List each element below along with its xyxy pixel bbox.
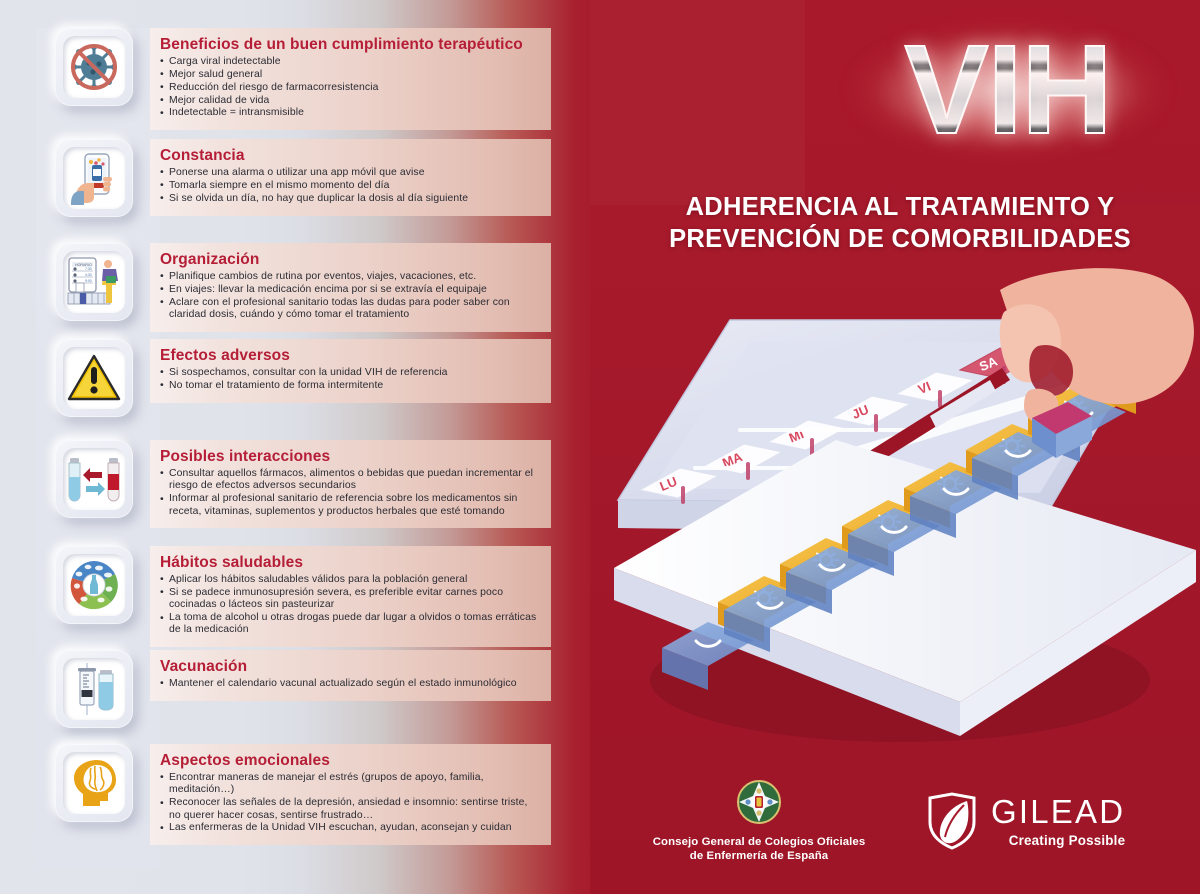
- phone-app-reminder-icon: [63, 147, 125, 209]
- section-bullet-list: Si sospechamos, consultar con la unidad …: [160, 367, 539, 392]
- section-bullet-list: Planifique cambios de rutina por eventos…: [160, 271, 539, 322]
- bullet-item: Tomarla siempre en el mismo momento del …: [160, 180, 539, 192]
- section-icon-container: [38, 339, 150, 417]
- section-title: Organización: [160, 251, 539, 269]
- section-bullet-list: Mantener el calendario vacunal actualiza…: [160, 678, 539, 690]
- section-title: Beneficios de un buen cumplimiento terap…: [160, 36, 539, 54]
- vih-logo-text: VIH: [832, 14, 1184, 166]
- section-bullet-list: Aplicar los hábitos saludables válidos p…: [160, 574, 539, 637]
- section-icon-container: [38, 546, 150, 624]
- section-card: Hábitos saludablesAplicar los hábitos sa…: [150, 546, 551, 647]
- section-7: VacunaciónMantener el calendario vacunal…: [38, 650, 551, 728]
- gilead-logo: GILEAD Creating Possible: [926, 790, 1176, 852]
- section-4: Efectos adversosSi sospechamos, consulta…: [38, 339, 551, 417]
- section-title: Efectos adversos: [160, 347, 539, 365]
- icon-tile: [55, 139, 133, 217]
- section-title: Posibles interacciones: [160, 448, 539, 466]
- section-bullet-list: Ponerse una alarma o utilizar una app mó…: [160, 167, 539, 205]
- bullet-item: Reducción del riesgo de farmacorresisten…: [160, 82, 539, 94]
- section-icon-container: HORARIO 7:304:309:00: [38, 243, 150, 321]
- section-bullet-list: Carga viral indetectableMejor salud gene…: [160, 56, 539, 120]
- section-3: HORARIO 7:304:309:00 OrganizaciónPlani: [38, 243, 551, 332]
- section-card: VacunaciónMantener el calendario vacunal…: [150, 650, 551, 701]
- icon-tile: [55, 28, 133, 106]
- bullet-item: En viajes: llevar la medicación encima p…: [160, 284, 539, 296]
- section-8: Aspectos emocionalesEncontrar maneras de…: [38, 744, 551, 845]
- bullet-item: Mejor salud general: [160, 69, 539, 81]
- gilead-wordmark: GILEAD: [991, 795, 1125, 828]
- section-icon-container: [38, 440, 150, 518]
- bullet-item: Consultar aquellos fármacos, alimentos o…: [160, 468, 539, 493]
- section-1: Beneficios de un buen cumplimiento terap…: [38, 28, 551, 130]
- section-card: OrganizaciónPlanifique cambios de rutina…: [150, 243, 551, 332]
- poster-canvas: Beneficios de un buen cumplimiento terap…: [0, 0, 1200, 894]
- bullet-item: Carga viral indetectable: [160, 56, 539, 68]
- calendar-schedule-icon: HORARIO 7:304:309:00: [63, 251, 125, 313]
- section-icon-container: [38, 28, 150, 106]
- section-bullet-list: Encontrar maneras de manejar el estrés (…: [160, 772, 539, 835]
- vih-logo: VIH: [832, 14, 1184, 166]
- section-title: Hábitos saludables: [160, 554, 539, 572]
- section-2: ConstanciaPonerse una alarma o utilizar …: [38, 139, 551, 217]
- bullet-item: Encontrar maneras de manejar el estrés (…: [160, 772, 539, 797]
- page-title: ADHERENCIA AL TRATAMIENTO Y PREVENCIÓN D…: [600, 192, 1200, 255]
- cge-emblem-icon: [732, 778, 786, 826]
- head-brain-icon: [63, 752, 125, 814]
- drug-interaction-vials-icon: [63, 448, 125, 510]
- bullet-item: Informar al profesional sanitario de ref…: [160, 493, 539, 518]
- healthy-food-wheel-icon: [63, 554, 125, 616]
- bullet-item: Si se padece inmunosupresión severa, es …: [160, 587, 539, 612]
- headline-line-1: ADHERENCIA AL TRATAMIENTO Y: [600, 192, 1200, 224]
- bullet-item: Aclare con el profesional sanitario toda…: [160, 297, 539, 322]
- bullet-item: Mejor calidad de vida: [160, 95, 539, 107]
- bullet-item: Planifique cambios de rutina por eventos…: [160, 271, 539, 283]
- bullet-item: La toma de alcohol u otras drogas puede …: [160, 612, 539, 637]
- bullet-item: Mantener el calendario vacunal actualiza…: [160, 678, 539, 690]
- gilead-tagline: Creating Possible: [991, 833, 1125, 848]
- section-bullet-list: Consultar aquellos fármacos, alimentos o…: [160, 468, 539, 518]
- section-6: Hábitos saludablesAplicar los hábitos sa…: [38, 546, 551, 647]
- section-title: Constancia: [160, 147, 539, 165]
- section-card: Posibles interaccionesConsultar aquellos…: [150, 440, 551, 528]
- icon-tile: [55, 339, 133, 417]
- section-title: Aspectos emocionales: [160, 752, 539, 770]
- section-icon-container: [38, 744, 150, 822]
- sections-list: Beneficios de un buen cumplimiento terap…: [0, 0, 600, 894]
- icon-tile: [55, 744, 133, 822]
- right-red-top-block: [590, 0, 805, 205]
- gilead-shield-icon: [926, 792, 978, 850]
- icon-tile: [55, 440, 133, 518]
- icon-tile: [55, 650, 133, 728]
- section-card: Aspectos emocionalesEncontrar maneras de…: [150, 744, 551, 845]
- pill-organizer-illustration: LUMAMIJUVISADO: [600, 250, 1200, 770]
- icon-tile: HORARIO 7:304:309:00: [55, 243, 133, 321]
- cge-line-2: de Enfermería de España: [604, 850, 914, 864]
- section-title: Vacunación: [160, 658, 539, 676]
- syringe-vaccine-icon: [63, 658, 125, 720]
- section-card: Efectos adversosSi sospechamos, consulta…: [150, 339, 551, 403]
- cge-logo: Consejo General de Colegios Oficiales de…: [604, 778, 914, 863]
- icon-tile: [55, 546, 133, 624]
- section-icon-container: [38, 650, 150, 728]
- cge-line-1: Consejo General de Colegios Oficiales: [604, 836, 914, 850]
- svg-text:9:00: 9:00: [85, 279, 92, 283]
- section-5: Posibles interaccionesConsultar aquellos…: [38, 440, 551, 528]
- bullet-item: Si se olvida un día, no hay que duplicar…: [160, 193, 539, 205]
- section-card: Beneficios de un buen cumplimiento terap…: [150, 28, 551, 130]
- bullet-item: Aplicar los hábitos saludables válidos p…: [160, 574, 539, 586]
- bullet-item: Si sospechamos, consultar con la unidad …: [160, 367, 539, 379]
- svg-text:7:30: 7:30: [85, 267, 92, 271]
- left-column: Beneficios de un buen cumplimiento terap…: [0, 0, 600, 894]
- bullet-item: Reconocer las señales de la depresión, a…: [160, 797, 539, 822]
- pill-organizer-svg: LUMAMIJUVISADO: [600, 250, 1200, 770]
- virus-blocked-icon: [63, 36, 125, 98]
- warning-triangle-icon: [63, 347, 125, 409]
- bullet-item: Indetectable = intransmisible: [160, 107, 539, 119]
- bullet-item: Ponerse una alarma o utilizar una app mó…: [160, 167, 539, 179]
- section-icon-container: [38, 139, 150, 217]
- svg-text:4:30: 4:30: [85, 273, 92, 277]
- bullet-item: No tomar el tratamiento de forma intermi…: [160, 380, 539, 392]
- bullet-item: Las enfermeras de la Unidad VIH escuchan…: [160, 822, 539, 834]
- section-card: ConstanciaPonerse una alarma o utilizar …: [150, 139, 551, 216]
